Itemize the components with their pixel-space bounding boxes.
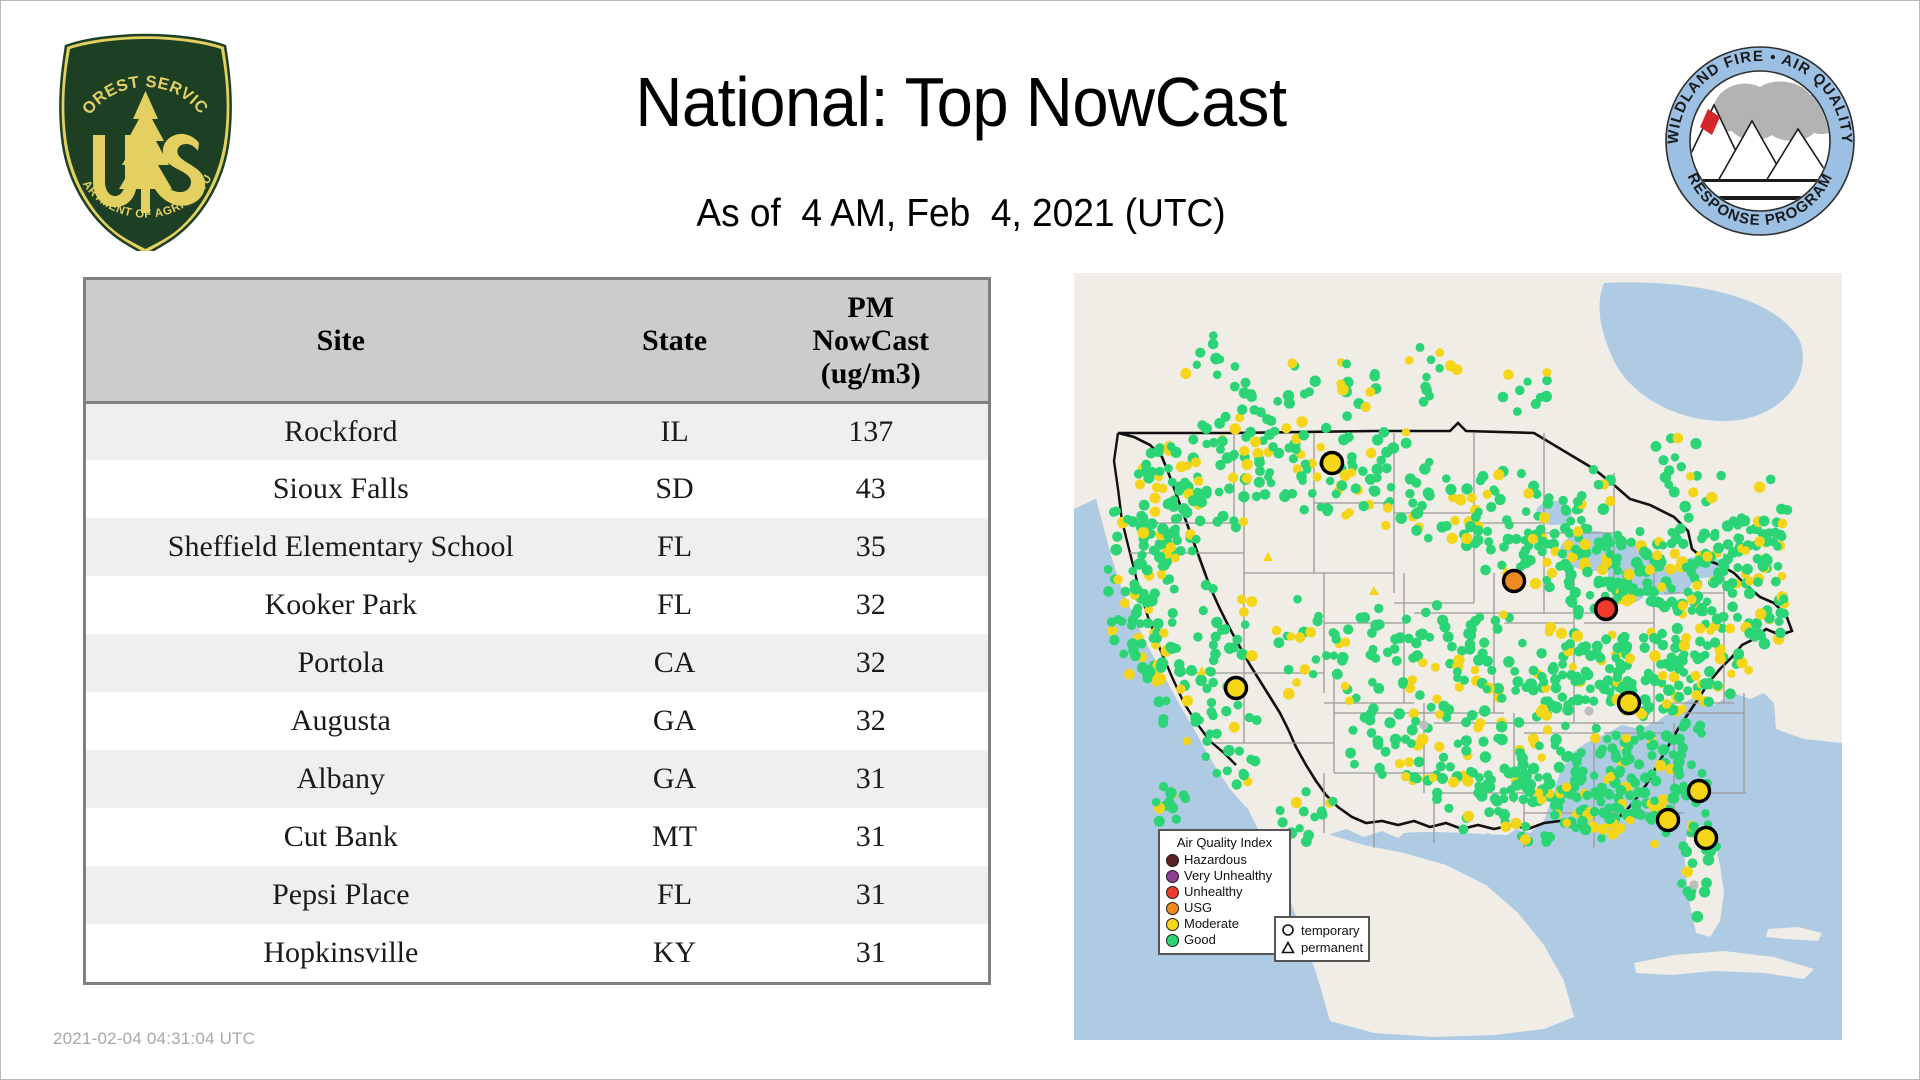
monitor-dot bbox=[1713, 567, 1724, 578]
monitor-dot bbox=[1657, 629, 1667, 639]
monitor-dot bbox=[1693, 725, 1701, 733]
monitor-dot bbox=[1595, 748, 1606, 759]
monitor-dot bbox=[1515, 748, 1525, 758]
monitor-dot bbox=[1641, 549, 1653, 561]
top-site-marker[interactable] bbox=[1504, 571, 1525, 592]
table-row: AugustaGA32 bbox=[86, 692, 988, 750]
monitor-dot bbox=[1139, 500, 1150, 511]
monitor-dot bbox=[1577, 516, 1586, 525]
monitor-dot bbox=[1181, 507, 1193, 519]
monitor-dot bbox=[1542, 558, 1551, 567]
monitor-dot bbox=[1390, 734, 1401, 745]
monitor-dot bbox=[1538, 753, 1547, 762]
monitor-dot bbox=[1342, 411, 1352, 421]
monitor-dot bbox=[1210, 353, 1222, 365]
monitor-dot bbox=[1483, 685, 1491, 693]
monitor-dot bbox=[1439, 753, 1448, 762]
state-cell: IL bbox=[596, 402, 754, 460]
monitor-dot bbox=[1112, 507, 1121, 516]
monitor-dot bbox=[1598, 503, 1610, 515]
monitor-dot bbox=[1254, 457, 1265, 468]
monitor-dot bbox=[1442, 474, 1451, 483]
monitor-dot bbox=[1678, 841, 1688, 851]
monitor-dot bbox=[1186, 665, 1197, 676]
aqi-legend-item: Unhealthy bbox=[1166, 884, 1283, 900]
monitor-dot bbox=[1193, 361, 1201, 369]
monitor-dot bbox=[1603, 735, 1612, 744]
monitor-dot bbox=[1360, 712, 1371, 723]
monitor-dot bbox=[1432, 600, 1442, 610]
legend-label-temporary: temporary bbox=[1301, 924, 1360, 938]
monitor-dot bbox=[1517, 469, 1526, 478]
monitor-dot bbox=[1405, 356, 1414, 365]
monitor-dot bbox=[1208, 584, 1217, 593]
monitor-dot bbox=[1648, 742, 1657, 751]
monitor-dot bbox=[1164, 464, 1173, 473]
monitor-dot bbox=[1771, 577, 1781, 587]
aqi-color-swatch bbox=[1166, 902, 1179, 915]
table-row: Cut BankMT31 bbox=[86, 808, 988, 866]
monitor-dot bbox=[1407, 725, 1418, 736]
air-quality-map[interactable]: Air Quality Index HazardousVery Unhealth… bbox=[1074, 273, 1842, 1040]
pm-nowcast-cell: 31 bbox=[753, 866, 988, 924]
monitor-dot bbox=[1124, 669, 1135, 680]
monitor-dot bbox=[1370, 369, 1380, 379]
monitor-dot bbox=[1733, 648, 1744, 659]
pm-nowcast-cell: 32 bbox=[753, 634, 988, 692]
monitor-dot bbox=[1505, 521, 1514, 530]
monitor-dot bbox=[1484, 807, 1494, 817]
table-row: AlbanyGA31 bbox=[86, 750, 988, 808]
monitor-dot bbox=[1458, 824, 1468, 834]
monitor-dot bbox=[1436, 762, 1446, 772]
monitor-dot bbox=[1677, 462, 1686, 471]
monitor-dot bbox=[1742, 564, 1753, 575]
monitor-dot bbox=[1581, 667, 1591, 677]
monitor-dot bbox=[1658, 671, 1667, 680]
monitor-dot bbox=[1278, 817, 1288, 827]
monitor-dot bbox=[1109, 635, 1119, 645]
monitor-dot bbox=[1143, 595, 1153, 605]
monitor-dot-nodata bbox=[1689, 880, 1698, 889]
monitor-dot bbox=[1529, 666, 1539, 676]
monitor-dot bbox=[1539, 512, 1550, 523]
monitor-dot bbox=[1464, 643, 1475, 654]
monitor-dot bbox=[1284, 398, 1295, 409]
monitor-dot bbox=[1493, 469, 1504, 480]
monitor-dot bbox=[1448, 777, 1459, 788]
monitor-dot bbox=[1384, 717, 1395, 728]
monitor-dot bbox=[1104, 565, 1113, 574]
monitor-dot bbox=[1461, 483, 1472, 494]
monitor-dot bbox=[1174, 514, 1183, 523]
monitor-dot bbox=[1461, 717, 1471, 727]
state-cell: FL bbox=[596, 518, 754, 576]
usda-forest-service-logo: FOREST SERVICE DEPARTMENT OF AGRICULTURE bbox=[53, 31, 238, 251]
monitor-dot bbox=[1301, 787, 1310, 796]
monitor-dot bbox=[1183, 737, 1191, 745]
monitor-dot bbox=[1237, 404, 1247, 414]
triangle-outline-icon bbox=[1281, 941, 1296, 955]
monitor-dot bbox=[1429, 773, 1438, 782]
monitor-dot bbox=[1641, 675, 1651, 685]
monitor-dot bbox=[1537, 672, 1546, 681]
monitor-dot bbox=[1381, 521, 1390, 530]
monitor-dot bbox=[1775, 628, 1786, 639]
monitor-dot bbox=[1445, 484, 1456, 495]
monitor-dot bbox=[1633, 787, 1643, 797]
monitor-dot bbox=[1291, 797, 1302, 808]
legend-item-temporary: temporary bbox=[1281, 922, 1363, 939]
monitor-dot bbox=[1577, 816, 1588, 827]
monitor-dot bbox=[1157, 570, 1166, 579]
monitor-dot bbox=[1401, 438, 1412, 449]
monitor-dot bbox=[1678, 656, 1688, 666]
monitor-dot bbox=[1651, 776, 1662, 787]
monitor-dot bbox=[1351, 483, 1361, 493]
monitor-dot bbox=[1727, 578, 1737, 588]
monitor-dot bbox=[1453, 674, 1461, 682]
monitor-dot bbox=[1237, 595, 1247, 605]
monitor-dot bbox=[1562, 819, 1571, 828]
monitor-dot bbox=[1191, 457, 1201, 467]
site-cell: Sheffield Elementary School bbox=[86, 518, 596, 576]
monitor-dot bbox=[1301, 460, 1310, 469]
monitor-dot bbox=[1612, 654, 1621, 663]
monitor-dot bbox=[1150, 507, 1161, 518]
monitor-dot bbox=[1158, 484, 1167, 493]
monitor-dot bbox=[1343, 624, 1353, 634]
monitor-dot bbox=[1606, 550, 1615, 559]
monitor-dot bbox=[1332, 635, 1341, 644]
monitor-dot bbox=[1435, 710, 1444, 719]
monitor-dot bbox=[1153, 634, 1162, 643]
monitor-dot bbox=[1640, 694, 1651, 705]
monitor-dot bbox=[1558, 692, 1567, 701]
monitor-dot bbox=[1471, 539, 1481, 549]
monitor-dot bbox=[1476, 613, 1485, 622]
monitor-dot bbox=[1167, 442, 1176, 451]
monitor-dot bbox=[1139, 540, 1149, 550]
monitor-dot bbox=[1287, 358, 1297, 368]
aqi-legend-item: Good bbox=[1166, 932, 1283, 948]
monitor-dot bbox=[1696, 603, 1707, 614]
monitor-dot bbox=[1461, 735, 1472, 746]
top-site-marker[interactable] bbox=[1658, 810, 1679, 831]
legend-label-permanent: permanent bbox=[1301, 941, 1363, 955]
monitor-dot bbox=[1437, 773, 1448, 784]
table-row: Sheffield Elementary SchoolFL35 bbox=[86, 518, 988, 576]
monitor-dot bbox=[1152, 798, 1161, 807]
monitor-dot bbox=[1217, 626, 1226, 635]
monitor-dot bbox=[1405, 489, 1414, 498]
monitor-dot bbox=[1112, 532, 1122, 542]
monitor-dot bbox=[1592, 724, 1601, 733]
top-site-marker[interactable] bbox=[1322, 453, 1343, 474]
monitor-dot bbox=[1497, 694, 1506, 703]
state-cell: FL bbox=[596, 866, 754, 924]
monitor-dot bbox=[1594, 480, 1604, 490]
monitor-dot bbox=[1583, 791, 1593, 801]
site-cell: Hopkinsville bbox=[86, 924, 596, 982]
monitor-dot bbox=[1239, 607, 1249, 617]
monitor-dot bbox=[1478, 737, 1488, 747]
monitor-dot bbox=[1272, 626, 1282, 636]
monitor-dot bbox=[1196, 497, 1207, 508]
monitor-dot bbox=[1478, 648, 1488, 658]
monitor-dot bbox=[1154, 696, 1165, 707]
site-cell: Rockford bbox=[86, 402, 596, 460]
monitor-dot bbox=[1718, 558, 1728, 568]
monitor-dot bbox=[1682, 866, 1693, 877]
monitor-dot bbox=[1514, 717, 1525, 728]
monitor-dot bbox=[1312, 472, 1321, 481]
monitor-dot bbox=[1206, 707, 1216, 717]
monitor-dot bbox=[1755, 608, 1766, 619]
monitor-dot bbox=[1667, 597, 1677, 607]
monitor-dot bbox=[1562, 782, 1572, 792]
aqi-legend-item: Very Unhealthy bbox=[1166, 868, 1283, 884]
monitor-dot bbox=[1653, 597, 1662, 606]
monitor-dot bbox=[1295, 632, 1305, 642]
monitor-dot bbox=[1172, 815, 1181, 824]
monitor-dot bbox=[1246, 755, 1256, 765]
monitor-dot bbox=[1387, 483, 1396, 492]
monitor-dot bbox=[1613, 673, 1622, 682]
monitor-dot bbox=[1395, 759, 1405, 769]
monitor-dot bbox=[1314, 612, 1323, 621]
monitor-dot bbox=[1228, 473, 1238, 483]
column-header-site: Site bbox=[86, 280, 596, 402]
monitor-dot bbox=[1345, 508, 1354, 517]
monitor-dot bbox=[1657, 582, 1666, 591]
monitor-dot bbox=[1127, 638, 1138, 649]
top-site-marker[interactable] bbox=[1689, 781, 1710, 802]
monitor-dot bbox=[1372, 434, 1383, 445]
top-site-marker[interactable] bbox=[1619, 693, 1640, 714]
monitor-dot bbox=[1310, 813, 1319, 822]
monitor-dot bbox=[1604, 813, 1616, 825]
monitor-dot bbox=[1373, 473, 1382, 482]
monitor-dot bbox=[1547, 568, 1557, 578]
monitor-dot bbox=[1279, 491, 1290, 502]
monitor-dot bbox=[1402, 615, 1411, 624]
monitor-dot bbox=[1138, 527, 1150, 539]
monitor-dot bbox=[1303, 830, 1314, 841]
monitor-dot bbox=[1402, 428, 1410, 436]
monitor-dot bbox=[1582, 567, 1593, 578]
monitor-dot bbox=[1121, 587, 1131, 597]
monitor-dot bbox=[1425, 458, 1433, 466]
monitor-dot bbox=[1528, 763, 1539, 774]
monitor-dot bbox=[1273, 397, 1282, 406]
monitor-dot bbox=[1207, 698, 1216, 707]
aqi-legend-item: Hazardous bbox=[1166, 852, 1283, 868]
monitor-dot bbox=[1293, 595, 1302, 604]
monitor-dot bbox=[1146, 518, 1157, 529]
monitor-dot bbox=[1146, 448, 1157, 459]
monitor-dot bbox=[1424, 490, 1435, 501]
monitor-dot bbox=[1601, 634, 1611, 644]
monitor-dot bbox=[1424, 534, 1433, 543]
monitor-dot bbox=[1276, 806, 1285, 815]
monitor-dot bbox=[1191, 717, 1201, 727]
slide-root: FOREST SERVICE DEPARTMENT OF AGRICULTURE… bbox=[0, 0, 1920, 1080]
aqi-legend: Air Quality Index HazardousVery Unhealth… bbox=[1158, 829, 1291, 955]
monitor-dot bbox=[1383, 503, 1393, 513]
site-cell: Portola bbox=[86, 634, 596, 692]
monitor-dot bbox=[1678, 601, 1688, 611]
aqi-legend-item: USG bbox=[1166, 900, 1283, 916]
monitor-dot bbox=[1576, 676, 1586, 686]
monitor-dot bbox=[1136, 619, 1145, 628]
monitor-dot bbox=[1194, 476, 1204, 486]
monitor-dot bbox=[1209, 640, 1218, 649]
table-row: Pepsi PlaceFL31 bbox=[86, 866, 988, 924]
monitor-dot bbox=[1695, 623, 1705, 633]
monitor-dot bbox=[1770, 528, 1780, 538]
monitor-dot bbox=[1193, 488, 1202, 497]
monitor-dot bbox=[1318, 810, 1328, 820]
monitor-dot bbox=[1678, 705, 1687, 714]
monitor-dot bbox=[1744, 588, 1755, 599]
monitor-dot bbox=[1523, 488, 1534, 499]
top-site-marker[interactable] bbox=[1696, 828, 1717, 849]
monitor-dot bbox=[1169, 495, 1178, 504]
monitor-dot bbox=[1292, 678, 1301, 687]
aqi-color-swatch bbox=[1166, 934, 1179, 947]
monitor-dot bbox=[1570, 766, 1581, 777]
state-cell: CA bbox=[596, 634, 754, 692]
monitor-dot bbox=[1664, 465, 1674, 475]
monitor-dot bbox=[1300, 505, 1309, 514]
monitor-dot bbox=[1617, 823, 1626, 832]
monitor-dot bbox=[1168, 618, 1177, 627]
monitor-dot bbox=[1615, 536, 1627, 548]
pm-nowcast-cell: 31 bbox=[753, 750, 988, 808]
monitor-dot bbox=[1141, 460, 1151, 470]
table-row: RockfordIL137 bbox=[86, 402, 988, 460]
monitor-dot bbox=[1574, 646, 1584, 656]
legend-item-permanent: permanent bbox=[1281, 939, 1363, 956]
monitor-dot bbox=[1524, 786, 1535, 797]
monitor-dot bbox=[1650, 796, 1659, 805]
monitor-dot bbox=[1388, 442, 1400, 454]
top-site-marker[interactable] bbox=[1596, 599, 1617, 620]
monitor-dot bbox=[1300, 664, 1311, 675]
monitor-dot bbox=[1474, 782, 1482, 790]
monitor-dot bbox=[1538, 547, 1547, 556]
aqi-legend-label: Very Unhealthy bbox=[1184, 869, 1272, 883]
monitor-dot bbox=[1252, 492, 1261, 501]
monitor-dot bbox=[1195, 516, 1206, 527]
table-row: HopkinsvilleKY31 bbox=[86, 924, 988, 982]
monitor-dot bbox=[1515, 386, 1525, 396]
monitor-dot bbox=[1716, 471, 1726, 481]
monitor-dot bbox=[1374, 604, 1383, 613]
monitor-dot bbox=[1432, 694, 1441, 703]
monitor-dot bbox=[1250, 437, 1261, 448]
monitor-dot bbox=[1673, 433, 1684, 444]
monitor-dot bbox=[1713, 681, 1723, 691]
monitor-dot bbox=[1356, 613, 1366, 623]
monitor-dot bbox=[1467, 493, 1477, 503]
monitor-dot bbox=[1671, 453, 1679, 461]
monitor-dot bbox=[1373, 739, 1384, 750]
monitor-dot bbox=[1544, 493, 1553, 502]
monitor-dot bbox=[1340, 470, 1351, 481]
monitor-dot bbox=[1577, 491, 1587, 501]
monitor-dot bbox=[1209, 331, 1218, 340]
monitor-dot bbox=[1370, 620, 1381, 631]
monitor-dot bbox=[1350, 760, 1359, 769]
state-cell: SD bbox=[596, 460, 754, 518]
monitor-dot bbox=[1254, 477, 1265, 488]
monitor-dot bbox=[1558, 670, 1567, 679]
monitor-dot bbox=[1647, 816, 1656, 825]
monitor-dot bbox=[1584, 524, 1592, 532]
monitor-dot bbox=[1193, 632, 1202, 641]
monitor-dot bbox=[1556, 747, 1565, 756]
monitor-dot bbox=[1541, 391, 1552, 402]
site-cell: Albany bbox=[86, 750, 596, 808]
monitor-dot bbox=[1128, 567, 1137, 576]
aqi-color-swatch bbox=[1166, 870, 1179, 883]
monitor-dot bbox=[1427, 355, 1436, 364]
monitor-dot bbox=[1746, 526, 1754, 534]
footer-timestamp: 2021-02-04 04:31:04 UTC bbox=[53, 1029, 255, 1049]
monitor-dot bbox=[1171, 530, 1179, 538]
monitor-dot bbox=[1188, 546, 1197, 555]
site-cell: Cut Bank bbox=[86, 808, 596, 866]
monitor-dot bbox=[1195, 348, 1205, 358]
monitor-dot bbox=[1647, 751, 1656, 760]
monitor-dot bbox=[1629, 809, 1637, 817]
monitor-dot bbox=[1725, 689, 1734, 698]
monitor-dot bbox=[1231, 522, 1241, 532]
monitor-dot bbox=[1305, 627, 1316, 638]
monitor-dot bbox=[1358, 467, 1366, 475]
monitor-dot bbox=[1519, 549, 1529, 559]
monitor-dot bbox=[1291, 445, 1301, 455]
monitor-dot bbox=[1503, 369, 1514, 380]
monitor-dot bbox=[1592, 545, 1602, 555]
monitor-dot bbox=[1572, 630, 1583, 641]
monitor-dot bbox=[1704, 666, 1715, 677]
column-header-pm-nowcast: PM NowCast (ug/m3) bbox=[753, 280, 988, 402]
monitor-dot bbox=[1493, 734, 1502, 743]
monitor-dot bbox=[1361, 402, 1371, 412]
monitor-dot bbox=[1713, 543, 1724, 554]
monitor-dot bbox=[1170, 585, 1179, 594]
monitor-dot bbox=[1597, 834, 1606, 843]
top-site-marker[interactable] bbox=[1226, 678, 1247, 699]
monitor-dot bbox=[1287, 632, 1296, 641]
monitor-dot bbox=[1230, 382, 1240, 392]
monitor-dot bbox=[1274, 637, 1285, 648]
monitor-dot bbox=[1711, 529, 1719, 537]
pm-nowcast-cell: 32 bbox=[753, 576, 988, 634]
monitor-dot bbox=[1246, 650, 1257, 661]
monitor-dot bbox=[1604, 789, 1613, 798]
monitor-dot bbox=[1536, 648, 1546, 658]
monitor-dot bbox=[1686, 472, 1695, 481]
monitor-dot bbox=[1665, 564, 1676, 575]
monitor-dot bbox=[1527, 796, 1538, 807]
monitor-dot bbox=[1444, 804, 1453, 813]
pm-nowcast-cell: 31 bbox=[753, 808, 988, 866]
monitor-dot bbox=[1775, 608, 1785, 618]
